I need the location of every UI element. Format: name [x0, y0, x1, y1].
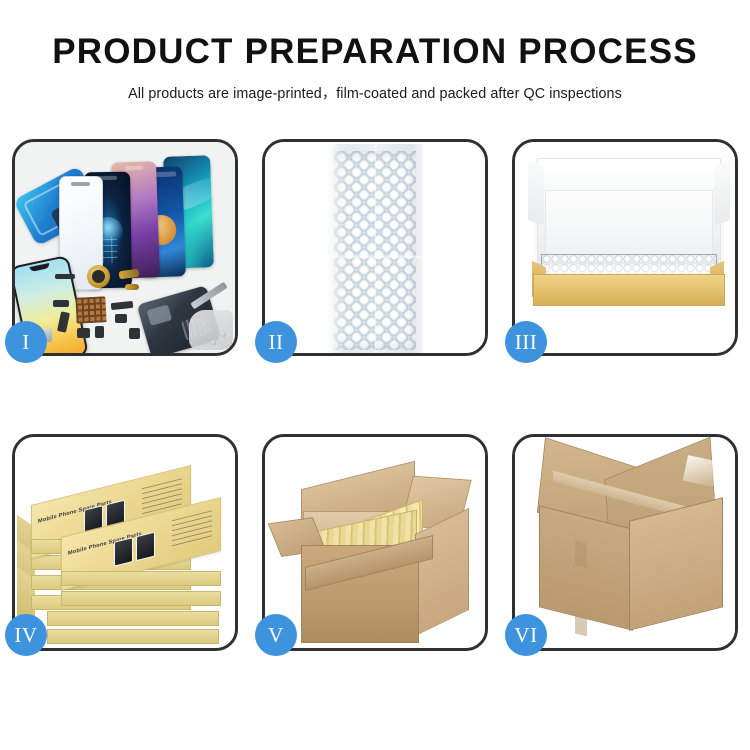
tape-tab-lower [575, 612, 587, 637]
screw [221, 332, 226, 337]
tape-tab-upper [575, 540, 587, 569]
step-panel-ii: II [262, 139, 488, 356]
page-subtitle: All products are image-printed，film-coat… [0, 82, 750, 103]
open-shipping-carton [279, 459, 477, 648]
kraft-box-tray [533, 254, 723, 312]
step-badge-iv: IV [5, 614, 47, 656]
step-badge-vi: VI [505, 614, 547, 656]
step-panel-vi: VI [512, 434, 738, 651]
chip-array-part [75, 296, 106, 324]
step-panel-v: V [262, 434, 488, 651]
step-badge-v: V [255, 614, 297, 656]
carton-face-right [629, 497, 723, 630]
tray-front [533, 274, 725, 306]
foam-insert [545, 190, 713, 264]
spare-part [77, 328, 90, 338]
page-title: PRODUCT PREPARATION PROCESS [0, 34, 750, 71]
step-panel-iii: III [512, 139, 738, 356]
copper-coil-part [87, 265, 110, 288]
spare-part [53, 300, 69, 307]
spare-part [95, 326, 104, 338]
screw [227, 342, 232, 347]
product-preparation-infographic: PRODUCT PREPARATION PROCESS All products… [0, 0, 750, 750]
sealed-shipping-carton [533, 455, 729, 645]
spare-part [115, 314, 127, 323]
pouch-gloss [327, 144, 347, 353]
step-panel-i: I [12, 139, 238, 356]
step-badge-iii: III [505, 321, 547, 363]
step-badge-i: I [5, 321, 47, 363]
step-i-illustration: I [15, 142, 235, 353]
spare-part [125, 284, 139, 290]
retail-box-stack: Mobile Phone Spare Parts Mobile Phone Sp… [15, 443, 235, 648]
step-iii-illustration: III [515, 142, 735, 353]
step-ii-illustration: II [265, 142, 485, 353]
header: PRODUCT PREPARATION PROCESS All products… [0, 0, 750, 103]
process-step-grid: I II [12, 139, 738, 651]
bubble-wrap-pouch [327, 144, 423, 353]
spare-part [129, 328, 140, 339]
spare-part [55, 274, 75, 279]
step-iv-illustration: Mobile Phone Spare Parts Mobile Phone Sp… [15, 437, 235, 648]
step-vi-illustration: VI [515, 437, 735, 648]
step-v-illustration: V [265, 437, 485, 648]
pouch-seam-vertical [374, 144, 377, 353]
step-badge-ii: II [255, 321, 297, 363]
step-panel-iv: Mobile Phone Spare Parts Mobile Phone Sp… [12, 434, 238, 651]
screw [211, 340, 216, 345]
